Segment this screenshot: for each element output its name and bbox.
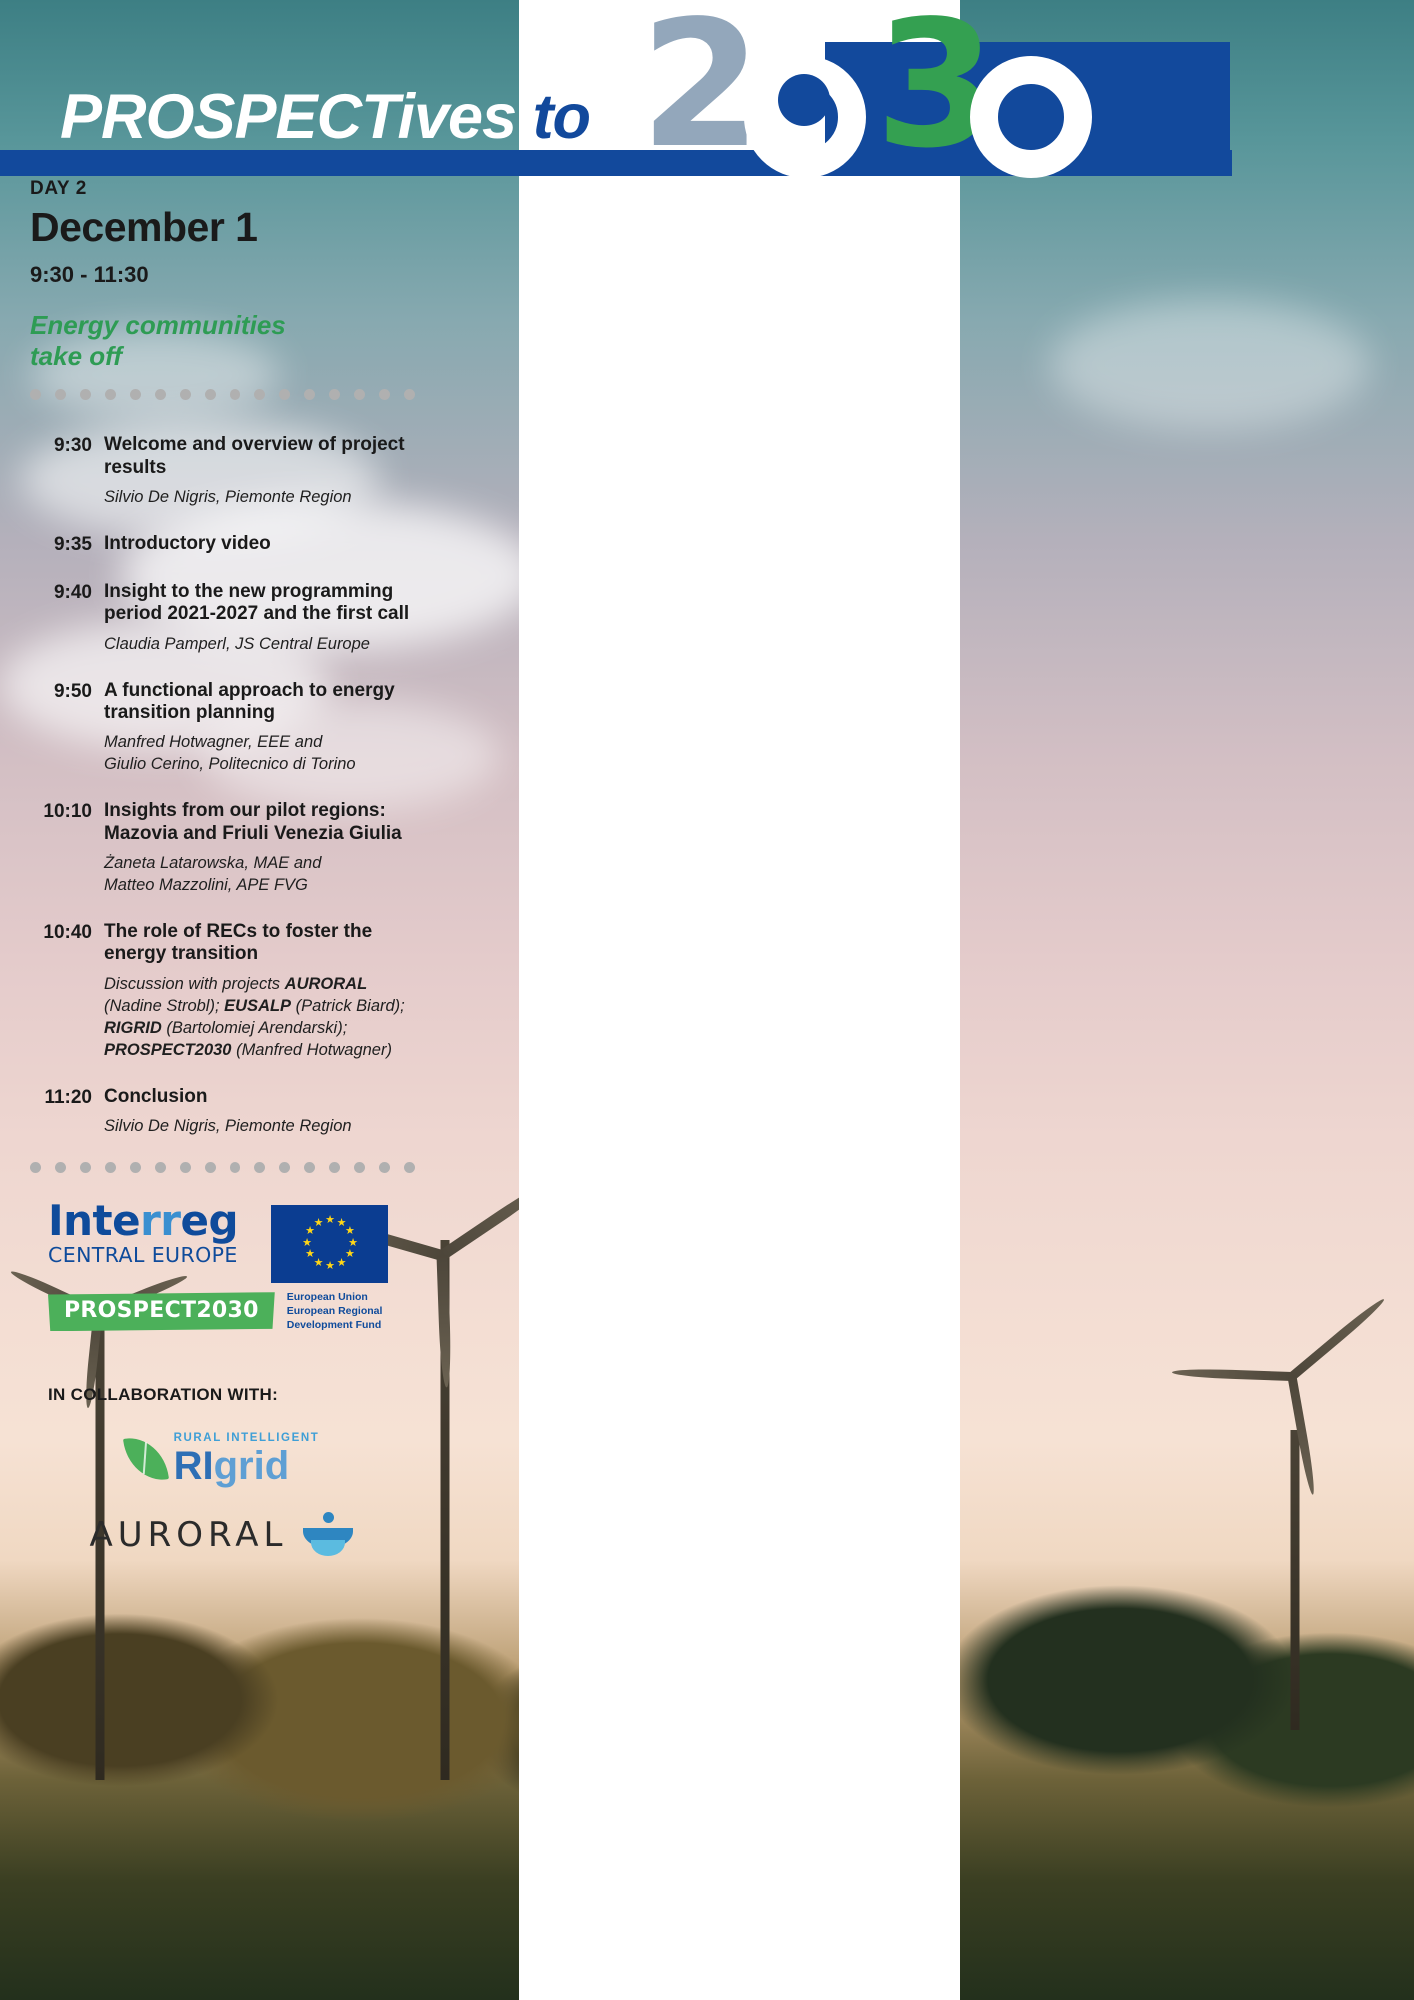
erdf-line1: European Union	[287, 1291, 383, 1305]
agenda-item-body: A functional approach to energy transiti…	[104, 680, 415, 777]
divider-dot	[30, 1162, 41, 1173]
collaboration-label: IN COLLABORATION WITH:	[48, 1385, 415, 1405]
agenda-item-time: 10:10	[30, 800, 104, 897]
agenda-item-title: A functional approach to energy transiti…	[104, 680, 415, 725]
rigrid-logo: RURAL INTELLIGENT RIgrid	[30, 1433, 415, 1487]
divider-dot	[55, 1162, 66, 1173]
divider-dot	[230, 1162, 241, 1173]
leaf-icon	[123, 1434, 169, 1485]
agenda-item-speaker: Silvio De Nigris, Piemonte Region	[104, 1116, 415, 1138]
divider-dot	[105, 389, 116, 400]
divider-dot	[30, 389, 41, 400]
eu-star-icon: ★	[345, 1226, 355, 1237]
session-time-range: 9:30 - 11:30	[30, 262, 415, 288]
interreg-word-part3: eg	[181, 1196, 239, 1245]
agenda-item-title: Introductory video	[104, 533, 415, 555]
agenda-item: 9:40Insight to the new programming perio…	[30, 581, 415, 656]
rigrid-name-part2: grid	[214, 1444, 290, 1488]
logo-dot-accent	[778, 74, 830, 126]
eu-star-icon: ★	[325, 1261, 335, 1272]
agenda-item-title: The role of RECs to foster the energy tr…	[104, 921, 415, 966]
discussion-project-name: PROSPECT2030	[104, 1041, 231, 1059]
divider-dot	[230, 389, 241, 400]
agenda-item-time: 9:40	[30, 581, 104, 656]
interreg-wordmark: Interreg CENTRAL EUROPE	[48, 1201, 261, 1283]
agenda-panel: DAY 2 December 1 9:30 - 11:30 Energy com…	[30, 178, 415, 1558]
interreg-word-part1: Inte	[48, 1196, 140, 1245]
title-ives: ives	[397, 82, 516, 152]
agenda-item-body: Insight to the new programming period 20…	[104, 581, 415, 656]
divider-dot	[205, 389, 216, 400]
rigrid-name-part1: RI	[174, 1444, 214, 1488]
eu-star-icon: ★	[314, 1218, 324, 1229]
title-prospect: PROSPECT	[60, 82, 397, 152]
agenda-item-title: Welcome and overview of project results	[104, 434, 415, 479]
divider-dot	[130, 389, 141, 400]
eu-star-icon: ★	[325, 1215, 335, 1226]
divider-dot	[130, 1162, 141, 1173]
interreg-subtitle: CENTRAL EUROPE	[48, 1243, 261, 1267]
agenda-item-body: Welcome and overview of project resultsS…	[104, 434, 415, 509]
session-title-line2: take off	[30, 341, 122, 371]
session-title: Energy communities take off	[30, 310, 415, 371]
divider-dot	[180, 1162, 191, 1173]
content-panel	[519, 0, 960, 2000]
divider-dot	[329, 389, 340, 400]
session-title-line1: Energy communities	[30, 310, 286, 340]
agenda-item-speaker: Giulio Cerino, Politecnico di Torino	[104, 754, 415, 776]
agenda-item-time: 9:50	[30, 680, 104, 777]
title-to: to	[533, 82, 590, 152]
date-title: December 1	[30, 206, 415, 249]
poster-title: PROSPECTives to	[60, 86, 590, 149]
day-label: DAY 2	[30, 178, 415, 200]
agenda-item: 10:10Insights from our pilot regions: Ma…	[30, 800, 415, 897]
divider-dot	[80, 389, 91, 400]
divider-dot	[404, 1162, 415, 1173]
eu-star-icon: ★	[314, 1258, 324, 1269]
prospect-brand-bar: PROSPECT2030 European Union European Reg…	[48, 1291, 388, 1333]
interreg-word: Interreg	[48, 1201, 261, 1241]
agenda-item-speaker: Manfred Hotwagner, EEE and	[104, 732, 415, 754]
eu-star-icon: ★	[345, 1249, 355, 1260]
divider-dot	[404, 389, 415, 400]
agenda-item-speaker: Żaneta Latarowska, MAE and	[104, 853, 415, 875]
erdf-line3: Development Fund	[287, 1319, 383, 1333]
dot-divider-top	[30, 389, 415, 400]
eu-star-icon: ★	[305, 1249, 315, 1260]
divider-dot	[279, 1162, 290, 1173]
divider-dot	[105, 1162, 116, 1173]
agenda-item-time: 11:20	[30, 1086, 104, 1138]
divider-dot	[304, 389, 315, 400]
agenda-item-speaker: Silvio De Nigris, Piemonte Region	[104, 487, 415, 509]
divider-dot	[379, 1162, 390, 1173]
event-poster: PROSPECTives to 2 3 DAY 2 December 1 9:3…	[0, 0, 1414, 2000]
agenda-item: 10:40The role of RECs to foster the ener…	[30, 921, 415, 1062]
logo-2030: 2 3	[640, 20, 1230, 180]
divider-dot	[254, 389, 265, 400]
wind-turbine	[1180, 1310, 1410, 1730]
agenda-item: 11:20ConclusionSilvio De Nigris, Piemont…	[30, 1086, 415, 1138]
agenda-item-title: Insight to the new programming period 20…	[104, 581, 415, 626]
rigrid-tagline: RURAL INTELLIGENT	[174, 1433, 320, 1445]
agenda-item: 9:35Introductory video	[30, 533, 415, 557]
dot-divider-bottom	[30, 1162, 415, 1173]
erdf-line2: European Regional	[287, 1305, 383, 1319]
divider-dot	[180, 389, 191, 400]
divider-dot	[379, 389, 390, 400]
eu-star-icon: ★	[348, 1238, 358, 1249]
agenda-item-speaker: Claudia Pamperl, JS Central Europe	[104, 634, 415, 656]
divider-dot	[55, 389, 66, 400]
discussion-project-name: AURORAL	[285, 975, 368, 993]
erdf-text: European Union European Regional Develop…	[287, 1291, 383, 1333]
cloud	[1050, 300, 1370, 430]
eu-star-icon: ★	[337, 1258, 347, 1269]
agenda-item-title: Insights from our pilot regions: Mazovia…	[104, 800, 415, 845]
agenda-item-body: Introductory video	[104, 533, 415, 557]
agenda-item-body: The role of RECs to foster the energy tr…	[104, 921, 415, 1062]
agenda-item-time: 10:40	[30, 921, 104, 1062]
eu-star-icon: ★	[302, 1238, 312, 1249]
divider-dot	[329, 1162, 340, 1173]
divider-dot	[304, 1162, 315, 1173]
auroral-wave-icon	[301, 1512, 355, 1558]
agenda-item-body: ConclusionSilvio De Nigris, Piemonte Reg…	[104, 1086, 415, 1138]
interreg-logo: Interreg CENTRAL EUROPE ★★★★★★★★★★★★ PRO…	[48, 1201, 388, 1333]
prospect-label: PROSPECT2030	[48, 1292, 275, 1331]
eu-flag-icon: ★★★★★★★★★★★★	[271, 1205, 388, 1283]
agenda-item-body: Insights from our pilot regions: Mazovia…	[104, 800, 415, 897]
divider-dot	[354, 389, 365, 400]
divider-dot	[155, 389, 166, 400]
divider-dot	[354, 1162, 365, 1173]
agenda-item: 9:30Welcome and overview of project resu…	[30, 434, 415, 509]
agenda-list: 9:30Welcome and overview of project resu…	[30, 434, 415, 1162]
divider-dot	[155, 1162, 166, 1173]
rigrid-name: RIgrid	[174, 1446, 320, 1486]
auroral-name: AURORAL	[90, 1515, 288, 1555]
divider-dot	[254, 1162, 265, 1173]
agenda-item-title: Conclusion	[104, 1086, 415, 1108]
discussion-project-name: RIGRID	[104, 1019, 162, 1037]
agenda-item: 9:50A functional approach to energy tran…	[30, 680, 415, 777]
divider-dot	[205, 1162, 216, 1173]
divider-dot	[80, 1162, 91, 1173]
agenda-item-speaker: Matteo Mazzolini, APE FVG	[104, 875, 415, 897]
discussion-project-name: EUSALP	[224, 997, 291, 1015]
agenda-item-discussion: Discussion with projects AURORAL (Nadine…	[104, 974, 415, 1062]
logo-digit-0-second	[970, 56, 1092, 178]
divider-dot	[279, 389, 290, 400]
agenda-item-time: 9:30	[30, 434, 104, 509]
interreg-word-part2: rr	[140, 1196, 180, 1245]
auroral-logo: AURORAL	[30, 1512, 415, 1558]
agenda-item-time: 9:35	[30, 533, 104, 557]
logo-digit-2: 2	[640, 0, 762, 173]
